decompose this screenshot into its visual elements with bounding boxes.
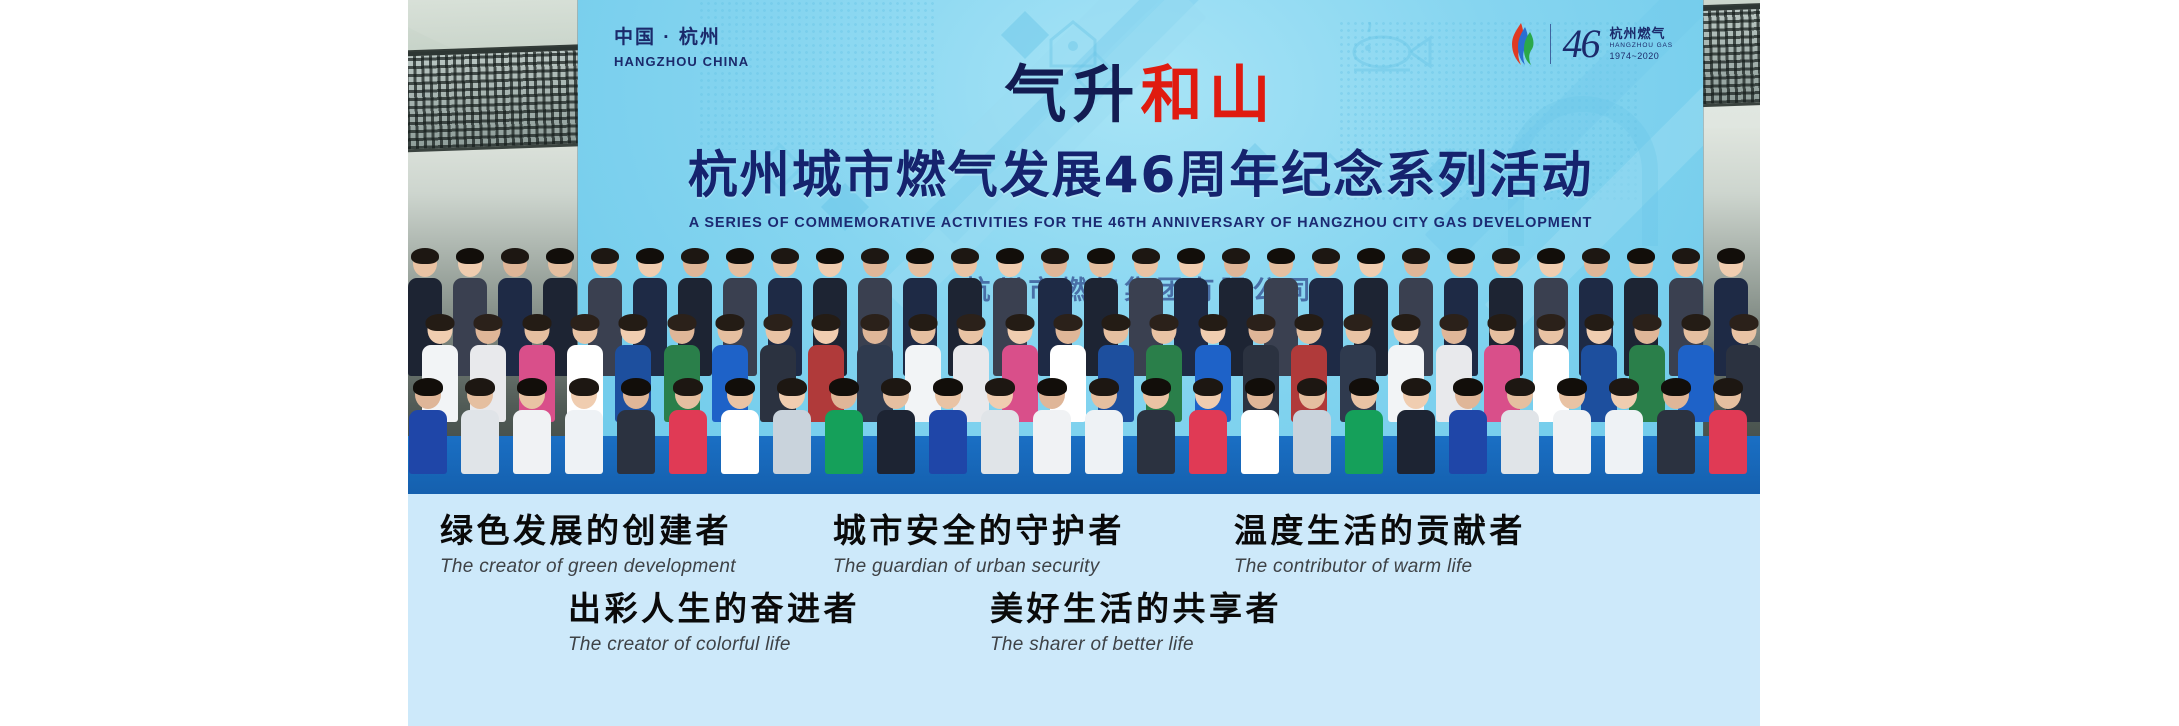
person-hair <box>996 248 1024 264</box>
person-hair <box>1041 248 1069 264</box>
slogans-panel: 绿色发展的创建者 The creator of green developmen… <box>408 494 1760 726</box>
person-hair <box>1349 378 1379 396</box>
slogan-en: The sharer of better life <box>990 634 1282 656</box>
person-silhouette <box>1498 378 1542 474</box>
person-hair <box>1536 314 1565 331</box>
person-hair <box>1089 378 1119 396</box>
person-hair <box>860 314 889 331</box>
person-hair <box>725 378 755 396</box>
slogan-en: The guardian of urban security <box>833 556 1125 578</box>
person-hair <box>426 314 455 331</box>
person-hair <box>1267 248 1295 264</box>
person-body <box>1709 410 1747 474</box>
logo-divider <box>1550 24 1551 64</box>
person-body <box>461 410 499 474</box>
slogan-item: 美好生活的共享者 The sharer of better life <box>990 590 1282 656</box>
person-hair <box>726 248 754 264</box>
slogan-cn: 绿色发展的创建者 <box>440 512 736 551</box>
person-silhouette <box>1030 378 1074 474</box>
person-silhouette <box>408 378 450 474</box>
person-hair <box>1488 314 1517 331</box>
person-silhouette <box>458 378 502 474</box>
person-hair <box>636 248 664 264</box>
person-hair <box>1357 248 1385 264</box>
person-hair <box>881 378 911 396</box>
flame-icon <box>1503 22 1539 66</box>
person-body <box>1553 410 1591 474</box>
person-silhouette <box>926 378 970 474</box>
person-silhouette <box>822 378 866 474</box>
person-body <box>1397 410 1435 474</box>
kv-logo-red: 和山 <box>1141 58 1277 131</box>
person-hair <box>517 378 547 396</box>
event-group-photo: 中国 · 杭州 HANGZHOU CHINA 46 杭州燃气 HANGZHOU … <box>408 0 1760 494</box>
person-hair <box>673 378 703 396</box>
logo-company-cn: 杭州燃气 <box>1609 26 1673 42</box>
logo-anniversary-number: 46 <box>1562 24 1598 64</box>
person-body <box>1345 410 1383 474</box>
person-body <box>1241 410 1279 474</box>
person-hair <box>1297 378 1327 396</box>
person-hair <box>1198 314 1227 331</box>
slogan-cn: 出彩人生的奋进者 <box>568 590 860 629</box>
person-hair <box>1005 314 1034 331</box>
person-hair <box>413 378 443 396</box>
person-body <box>1657 410 1695 474</box>
led-location-block: 中国 · 杭州 HANGZHOU CHINA <box>614 26 749 69</box>
person-body <box>409 410 447 474</box>
person-hair <box>771 248 799 264</box>
person-hair <box>1492 248 1520 264</box>
person-hair <box>501 248 529 264</box>
logo-company-en: HANGZHOU GAS <box>1609 42 1673 50</box>
person-body <box>1189 410 1227 474</box>
slogan-row-1: 绿色发展的创建者 The creator of green developmen… <box>408 494 1760 578</box>
person-hair <box>812 314 841 331</box>
person-hair <box>474 314 503 331</box>
person-silhouette <box>510 378 554 474</box>
person-silhouette <box>1446 378 1490 474</box>
person-body <box>1033 410 1071 474</box>
slogan-row-2: 出彩人生的奋进者 The creator of colorful life 美好… <box>408 578 1760 656</box>
person-hair <box>1713 378 1743 396</box>
person-hair <box>546 248 574 264</box>
person-hair <box>411 248 439 264</box>
person-hair <box>1717 248 1745 264</box>
person-body <box>1449 410 1487 474</box>
slogan-cn: 温度生活的贡献者 <box>1234 512 1526 551</box>
slogan-en: The creator of colorful life <box>568 634 860 656</box>
person-hair <box>456 248 484 264</box>
person-body <box>773 410 811 474</box>
person-body <box>565 410 603 474</box>
person-hair <box>1557 378 1587 396</box>
person-hair <box>569 378 599 396</box>
person-silhouette <box>1394 378 1438 474</box>
person-hair <box>1312 248 1340 264</box>
person-hair <box>591 248 619 264</box>
person-hair <box>1245 378 1275 396</box>
person-silhouette <box>770 378 814 474</box>
person-hair <box>1177 248 1205 264</box>
person-hair <box>1729 314 1758 331</box>
logo-text-block: 杭州燃气 HANGZHOU GAS 1974~2020 <box>1609 26 1673 63</box>
banner-title: 杭州城市燃气发展46周年纪念系列活动 <box>578 148 1703 203</box>
person-hair <box>777 378 807 396</box>
slogan-cn: 美好生活的共享者 <box>990 590 1282 629</box>
person-hair <box>621 378 651 396</box>
person-hair <box>715 314 744 331</box>
person-body <box>1293 410 1331 474</box>
person-hair <box>1053 314 1082 331</box>
banner-subtitle: A SERIES OF COMMEMORATIVE ACTIVITIES FOR… <box>578 215 1703 231</box>
slogan-item: 温度生活的贡献者 The contributor of warm life <box>1234 512 1526 578</box>
location-cn: 中国 · 杭州 <box>614 26 749 51</box>
person-hair <box>1633 314 1662 331</box>
slogan-en: The creator of green development <box>440 556 736 578</box>
person-hair <box>1295 314 1324 331</box>
content-column: 中国 · 杭州 HANGZHOU CHINA 46 杭州燃气 HANGZHOU … <box>408 0 1760 726</box>
slogan-item: 绿色发展的创建者 The creator of green developmen… <box>440 512 736 578</box>
person-hair <box>1141 378 1171 396</box>
person-hair <box>1661 378 1691 396</box>
person-hair <box>1447 248 1475 264</box>
person-body <box>617 410 655 474</box>
person-silhouette <box>1602 378 1646 474</box>
person-body <box>877 410 915 474</box>
person-body <box>513 410 551 474</box>
person-hair <box>764 314 793 331</box>
slogan-item: 城市安全的守护者 The guardian of urban security <box>833 512 1125 578</box>
kv-logo-dark: 气升 <box>1004 58 1140 131</box>
slogan-item: 出彩人生的奋进者 The creator of colorful life <box>568 590 860 656</box>
person-hair <box>1672 248 1700 264</box>
person-hair <box>571 314 600 331</box>
person-body <box>1605 410 1643 474</box>
person-hair <box>933 378 963 396</box>
person-silhouette <box>1186 378 1230 474</box>
person-hair <box>1402 248 1430 264</box>
person-hair <box>1222 248 1250 264</box>
person-hair <box>1627 248 1655 264</box>
person-silhouette <box>1238 378 1282 474</box>
person-hair <box>1582 248 1610 264</box>
person-hair <box>1247 314 1276 331</box>
person-body <box>1085 410 1123 474</box>
person-silhouette <box>1290 378 1334 474</box>
person-body <box>1501 410 1539 474</box>
crowd-group: {} <box>408 264 1760 494</box>
person-hair <box>1585 314 1614 331</box>
person-hair <box>1537 248 1565 264</box>
person-hair <box>1440 314 1469 331</box>
person-hair <box>1453 378 1483 396</box>
person-silhouette <box>1706 378 1750 474</box>
person-hair <box>465 378 495 396</box>
slogan-en: The contributor of warm life <box>1234 556 1526 578</box>
person-hair <box>951 248 979 264</box>
page-root: 中国 · 杭州 HANGZHOU CHINA 46 杭州燃气 HANGZHOU … <box>0 0 2179 726</box>
person-silhouette <box>1654 378 1698 474</box>
person-silhouette <box>1550 378 1594 474</box>
person-body <box>981 410 1019 474</box>
person-body <box>929 410 967 474</box>
person-hair <box>1391 314 1420 331</box>
person-hair <box>619 314 648 331</box>
person-hair <box>1401 378 1431 396</box>
person-silhouette <box>874 378 918 474</box>
person-body <box>1137 410 1175 474</box>
person-silhouette <box>1134 378 1178 474</box>
person-hair <box>957 314 986 331</box>
person-hair <box>1193 378 1223 396</box>
person-hair <box>667 314 696 331</box>
person-hair <box>985 378 1015 396</box>
person-silhouette <box>1342 378 1386 474</box>
person-hair <box>909 314 938 331</box>
person-hair <box>1150 314 1179 331</box>
logo-years: 1974~2020 <box>1609 51 1673 62</box>
person-hair <box>1343 314 1372 331</box>
person-hair <box>1037 378 1067 396</box>
person-silhouette <box>666 378 710 474</box>
person-hair <box>1132 248 1160 264</box>
kv-logo: 气升和山 <box>578 64 1703 126</box>
diamond-motif <box>1001 11 1049 59</box>
person-silhouette <box>718 378 762 474</box>
person-body <box>825 410 863 474</box>
hangzhou-gas-logo: 46 杭州燃气 HANGZHOU GAS 1974~2020 <box>1503 22 1673 66</box>
person-hair <box>861 248 889 264</box>
person-hair <box>1102 314 1131 331</box>
person-hair <box>816 248 844 264</box>
person-hair <box>681 248 709 264</box>
slogan-cn: 城市安全的守护者 <box>833 512 1125 551</box>
person-hair <box>1505 378 1535 396</box>
person-silhouette <box>1082 378 1126 474</box>
key-visual-block: 气升和山 杭州城市燃气发展46周年纪念系列活动 A SERIES OF COMM… <box>578 64 1703 231</box>
person-hair <box>1087 248 1115 264</box>
person-body <box>669 410 707 474</box>
person-hair <box>1609 378 1639 396</box>
person-hair <box>1681 314 1710 331</box>
person-silhouette <box>978 378 1022 474</box>
person-hair <box>829 378 859 396</box>
person-body <box>721 410 759 474</box>
person-hair <box>906 248 934 264</box>
person-silhouette <box>614 378 658 474</box>
person-silhouette <box>562 378 606 474</box>
person-hair <box>522 314 551 331</box>
